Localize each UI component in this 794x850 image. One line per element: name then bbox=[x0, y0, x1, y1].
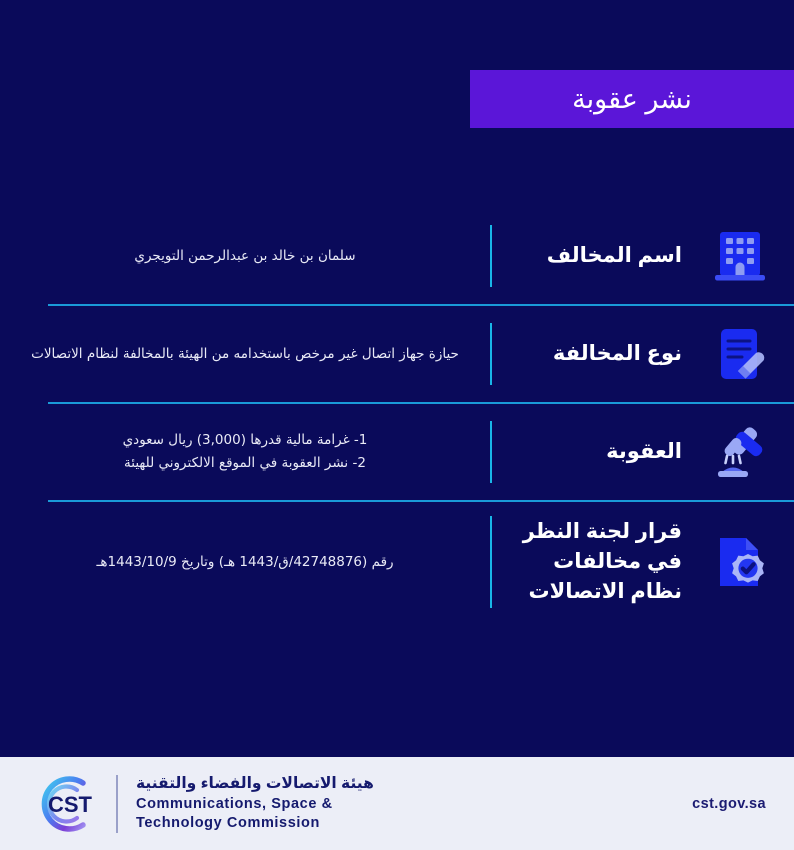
detail-row-violator-name: اسم المخالف سلمان بن خالد بن عبدالرحمن ا… bbox=[0, 208, 794, 304]
row-value-cell: 1- غرامة مالية قدرها (3,000) ريال سعودي … bbox=[0, 429, 490, 475]
row-label-cell: قرار لجنة النظر في مخالفات نظام الاتصالا… bbox=[490, 517, 686, 606]
row-label-cell: نوع المخالفة bbox=[490, 340, 686, 369]
detail-value-penalty: 1- غرامة مالية قدرها (3,000) ريال سعودي … bbox=[24, 429, 466, 475]
row-value-cell: سلمان بن خالد بن عبدالرحمن التويجري bbox=[0, 245, 490, 268]
page-title-banner: نشر عقوبة bbox=[470, 70, 794, 128]
penalty-line-2: 2- نشر العقوبة في الموقع الالكتروني للهي… bbox=[124, 455, 366, 471]
detail-label-violation-type: نوع المخالفة bbox=[490, 340, 682, 369]
footer-bar: CST هيئة الاتصالات والفضاء والتقنية Comm… bbox=[0, 754, 794, 850]
cst-logo-icon: CST bbox=[36, 771, 102, 837]
label-divider bbox=[490, 421, 492, 483]
row-value-cell: رقم (42748876/ق/1443 هـ) وتاريخ 1443/10/… bbox=[0, 551, 490, 574]
page-title: نشر عقوبة bbox=[572, 86, 692, 113]
row-icon-cell bbox=[686, 322, 794, 386]
label-divider bbox=[490, 323, 492, 385]
detail-row-violation-type: نوع المخالفة حيازة جهاز اتصال غير مرخص ب… bbox=[0, 306, 794, 402]
row-label-cell: العقوبة bbox=[490, 438, 686, 467]
verified-document-icon bbox=[708, 530, 772, 594]
label-divider bbox=[490, 516, 492, 608]
brand-names: هيئة الاتصالات والفضاء والتقنية Communic… bbox=[136, 774, 374, 833]
cst-logo-text: CST bbox=[48, 792, 93, 817]
details-list: اسم المخالف سلمان بن خالد بن عبدالرحمن ا… bbox=[0, 160, 794, 754]
org-name-english-line1: Communications, Space & bbox=[136, 795, 374, 814]
detail-label-penalty: العقوبة bbox=[490, 438, 682, 467]
detail-value-violation-type: حيازة جهاز اتصال غير مرخص باستخدامه من ا… bbox=[24, 343, 466, 366]
penalty-line-1: 1- غرامة مالية قدرها (3,000) ريال سعودي bbox=[123, 432, 368, 448]
row-icon-cell bbox=[686, 420, 794, 484]
org-name-arabic: هيئة الاتصالات والفضاء والتقنية bbox=[136, 774, 374, 795]
decision-label-line-3: نظام الاتصالات bbox=[529, 580, 683, 603]
row-icon-cell bbox=[686, 530, 794, 594]
row-icon-cell bbox=[686, 224, 794, 288]
decision-label-line-1: قرار لجنة النظر bbox=[523, 520, 682, 543]
detail-value-committee-decision: رقم (42748876/ق/1443 هـ) وتاريخ 1443/10/… bbox=[24, 551, 466, 574]
detail-label-violator-name: اسم المخالف bbox=[490, 242, 682, 271]
decision-label-line-2: في مخالفات bbox=[553, 550, 682, 573]
detail-row-penalty: العقوبة 1- غرامة مالية قدرها (3,000) ريا… bbox=[0, 404, 794, 500]
label-divider bbox=[490, 225, 492, 287]
penalty-publication-poster: نشر عقوبة bbox=[0, 0, 794, 850]
brand-block: CST هيئة الاتصالات والفضاء والتقنية Comm… bbox=[36, 771, 374, 837]
org-name-english-line2: Technology Commission bbox=[136, 814, 374, 833]
header-zone: نشر عقوبة bbox=[0, 0, 794, 160]
detail-row-committee-decision: قرار لجنة النظر في مخالفات نظام الاتصالا… bbox=[0, 502, 794, 622]
gavel-icon bbox=[708, 420, 772, 484]
footer-website-url[interactable]: cst.gov.sa bbox=[692, 796, 766, 812]
document-pen-icon bbox=[708, 322, 772, 386]
building-icon bbox=[708, 224, 772, 288]
detail-label-committee-decision: قرار لجنة النظر في مخالفات نظام الاتصالا… bbox=[490, 517, 682, 606]
brand-divider bbox=[116, 775, 118, 833]
detail-value-violator-name: سلمان بن خالد بن عبدالرحمن التويجري bbox=[24, 245, 466, 268]
row-label-cell: اسم المخالف bbox=[490, 242, 686, 271]
row-value-cell: حيازة جهاز اتصال غير مرخص باستخدامه من ا… bbox=[0, 343, 490, 366]
